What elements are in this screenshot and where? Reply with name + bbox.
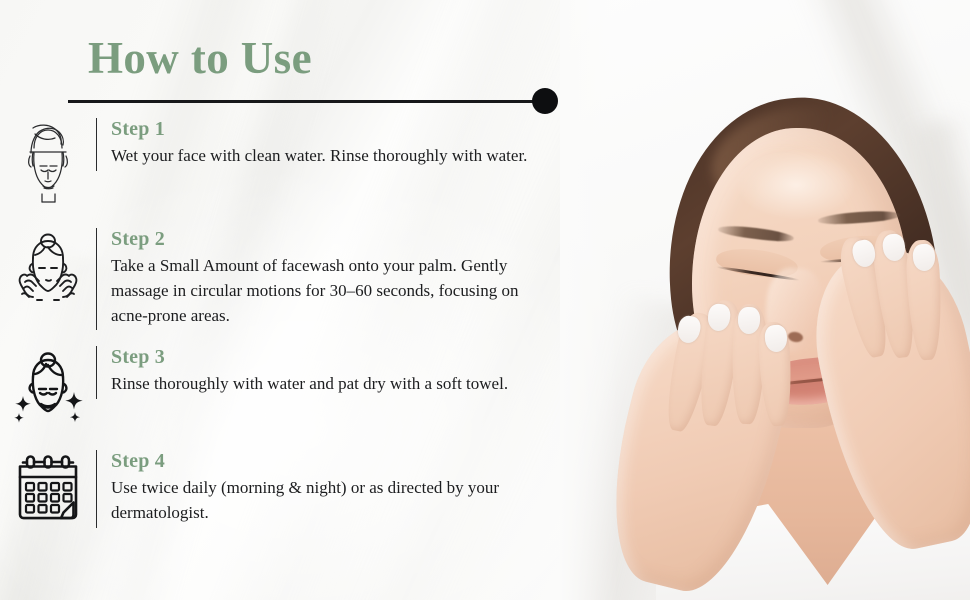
face-with-hair-towel-icon xyxy=(17,122,79,204)
model-photo xyxy=(560,0,970,600)
step-2-body: Step 2 Take a Small Amount of facewash o… xyxy=(96,228,600,330)
step-item: Step 1 Wet your face with clean water. R… xyxy=(0,118,600,204)
step-3-text: Rinse thoroughly with water and pat dry … xyxy=(111,372,531,397)
step-1-body: Step 1 Wet your face with clean water. R… xyxy=(96,118,600,171)
step-4-label: Step 4 xyxy=(111,450,600,473)
step-4-text: Use twice daily (morning & night) or as … xyxy=(111,476,531,526)
face-massage-hands-icon xyxy=(13,232,83,310)
step-2-label: Step 2 xyxy=(111,228,600,251)
calendar-icon xyxy=(16,454,80,522)
step-2-icon-slot xyxy=(0,228,96,310)
model-forehead-highlight xyxy=(736,150,856,220)
step-3-icon-slot xyxy=(0,346,96,426)
step-1-label: Step 1 xyxy=(111,118,600,141)
step-4-icon-slot xyxy=(0,450,96,522)
glowing-face-sparkles-icon xyxy=(11,350,85,426)
step-4-body: Step 4 Use twice daily (morning & night)… xyxy=(96,450,600,528)
step-3-label: Step 3 xyxy=(111,346,600,369)
step-item: Step 3 Rinse thoroughly with water and p… xyxy=(0,346,600,426)
page-title: How to Use xyxy=(88,36,312,81)
step-3-body: Step 3 Rinse thoroughly with water and p… xyxy=(96,346,600,399)
title-rule-line xyxy=(68,100,545,103)
steps-list: Step 1 Wet your face with clean water. R… xyxy=(0,118,600,528)
step-item: Step 2 Take a Small Amount of facewash o… xyxy=(0,228,600,330)
step-item: Step 4 Use twice daily (morning & night)… xyxy=(0,450,600,528)
step-2-text: Take a Small Amount of facewash onto you… xyxy=(111,254,531,328)
title-rule-dot-icon xyxy=(532,88,558,114)
step-1-text: Wet your face with clean water. Rinse th… xyxy=(111,144,531,169)
title-underline xyxy=(68,88,560,116)
step-1-icon-slot xyxy=(0,118,96,204)
how-to-use-infographic: How to Use xyxy=(0,0,970,600)
